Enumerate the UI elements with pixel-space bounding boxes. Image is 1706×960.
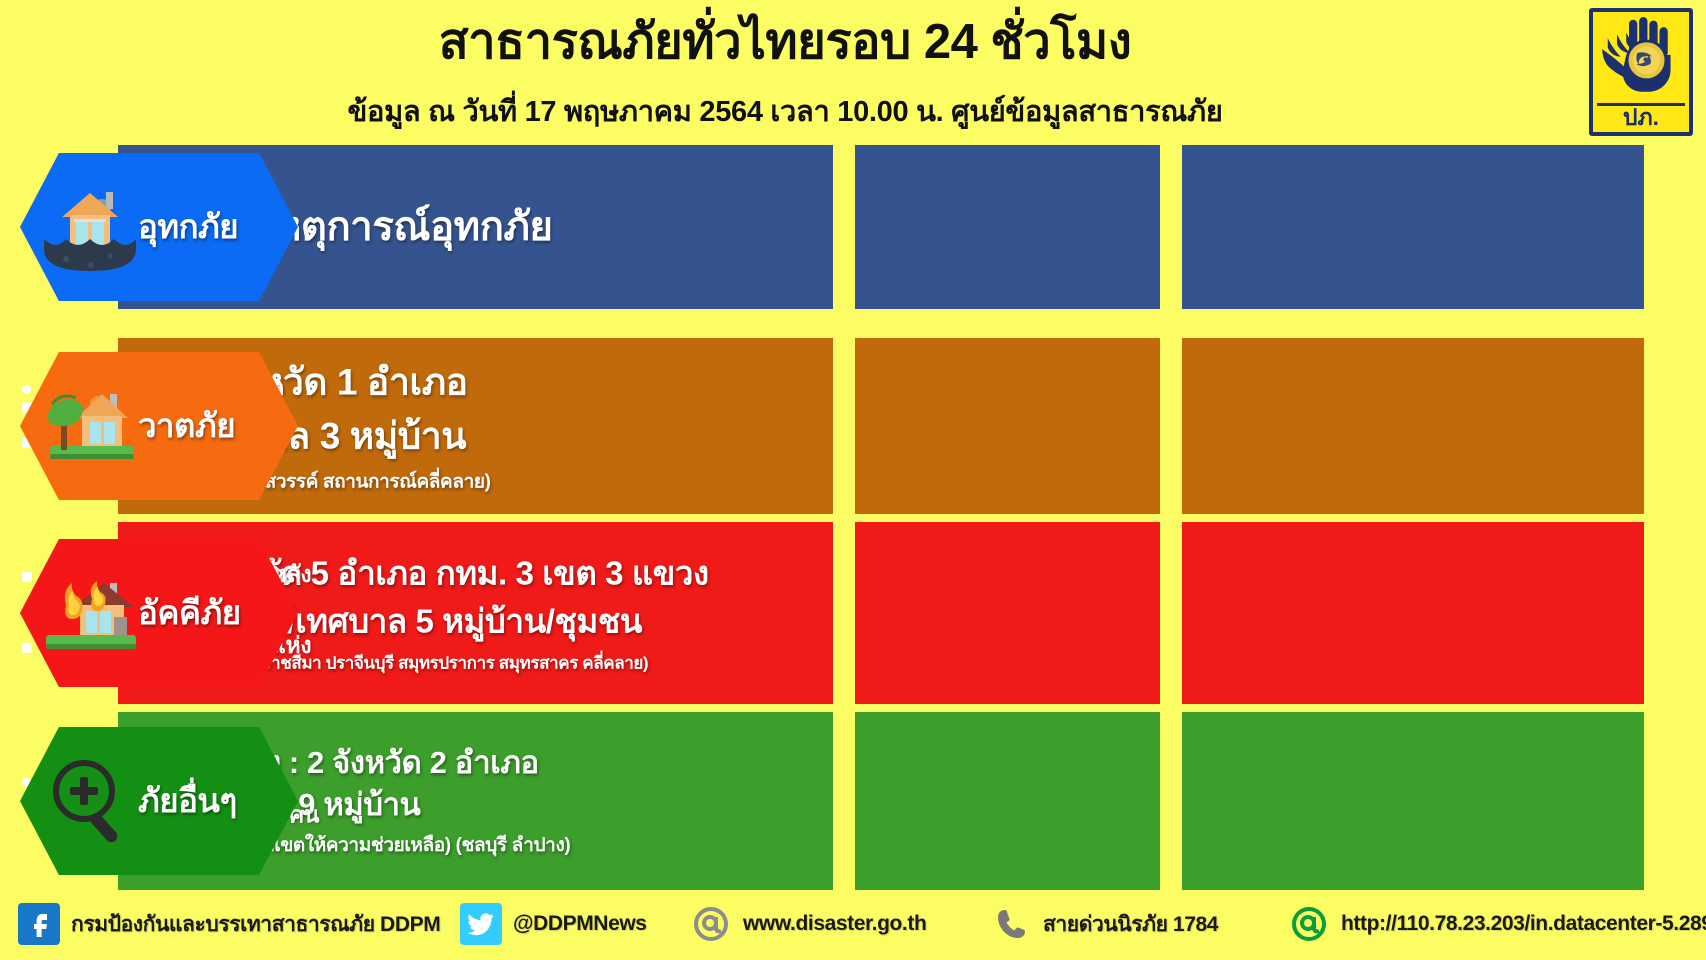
bullet-square-icon bbox=[22, 572, 32, 582]
footer-website-label: www.disaster.go.th bbox=[743, 912, 926, 936]
at-sign-green-icon bbox=[1288, 903, 1330, 945]
other-main-line-2: 2 ตำบล 9 หมู่บ้าน bbox=[190, 784, 1692, 826]
footer: กรมป้องกันและบรรเทาสาธารณภัย DDPM @DDPMN… bbox=[0, 890, 1706, 960]
other-main-note: (ประกาศเขตให้ความช่วยเหลือ) (ชลบุรี ลำปา… bbox=[204, 830, 1692, 860]
header: สาธารณภัยทั่วไทยรอบ 24 ชั่วโมง ข้อมูล ณ … bbox=[0, 0, 1706, 146]
magnifier-plus-icon bbox=[36, 749, 144, 853]
infographic-page: สาธารณภัยทั่วไทยรอบ 24 ชั่วโมง ข้อมูล ณ … bbox=[0, 0, 1706, 960]
at-sign-icon bbox=[690, 903, 732, 945]
fire-label: อัคคีภัย bbox=[138, 595, 288, 631]
wind-badge: วาตภัย bbox=[20, 352, 298, 500]
flood-main-line-1: ไม่มีเหตุการณ์อุทกภัย bbox=[190, 198, 1692, 256]
house-tree-wind-icon bbox=[36, 374, 144, 478]
footer-facebook-label: กรมป้องกันและบรรเทาสาธารณภัย DDPM bbox=[71, 908, 440, 941]
row-fire: อัคคีภัย 4 จังหวัด 5 อำเภอ กทม. 3 เขต 3 … bbox=[0, 522, 1706, 704]
page-subtitle: ข้อมูล ณ วันที่ 17 พฤษภาคม 2564 เวลา 10.… bbox=[0, 88, 1570, 134]
facebook-icon bbox=[18, 903, 60, 945]
flood-label: อุทกภัย bbox=[138, 209, 288, 245]
twitter-icon bbox=[460, 903, 502, 945]
row-flood: อุทกภัย ไม่มีเหตุการณ์อุทกภัย bbox=[0, 145, 1706, 309]
wind-label: วาตภัย bbox=[138, 408, 288, 444]
flood-badge: อุทกภัย bbox=[20, 153, 298, 301]
footer-hotline-label: สายด่วนนิรภัย 1784 bbox=[1043, 908, 1218, 941]
bullet-square-icon bbox=[22, 643, 32, 653]
house-fire-icon bbox=[36, 561, 144, 665]
footer-twitter[interactable]: @DDPMNews bbox=[460, 902, 647, 946]
ddpm-hand-emblem-icon bbox=[1593, 12, 1689, 103]
wind-main-note: (นครสวรรค์ สถานการณ์คลี่คลาย) bbox=[224, 467, 1692, 497]
footer-twitter-label: @DDPMNews bbox=[513, 912, 647, 936]
footer-datacenter[interactable]: http://110.78.23.203/in.datacenter-5.289… bbox=[1288, 902, 1706, 946]
footer-website[interactable]: www.disaster.go.th bbox=[690, 902, 926, 946]
phone-icon bbox=[990, 903, 1032, 945]
house-flood-icon bbox=[36, 175, 144, 279]
other-badge: ภัยอื่นๆ bbox=[20, 727, 298, 875]
row-other: ภัยอื่นๆ ภัยแล้ง : 2 จังหวัด 2 อำเภอ 2 ต… bbox=[0, 712, 1706, 890]
footer-facebook[interactable]: กรมป้องกันและบรรเทาสาธารณภัย DDPM bbox=[18, 902, 440, 946]
logo-name-box: ปภ. bbox=[1597, 103, 1685, 129]
page-title: สาธารณภัยทั่วไทยรอบ 24 ชั่วโมง bbox=[0, 14, 1570, 70]
other-main-text: ภัยแล้ง : 2 จังหวัด 2 อำเภอ 2 ตำบล 9 หมู… bbox=[190, 742, 1692, 860]
flood-main-text: ไม่มีเหตุการณ์อุทกภัย bbox=[190, 198, 1692, 256]
other-main-line-1: ภัยแล้ง : 2 จังหวัด 2 อำเภอ bbox=[190, 742, 1692, 784]
ddpm-logo: ปภ. bbox=[1589, 8, 1693, 136]
footer-datacenter-label: http://110.78.23.203/in.datacenter-5.289… bbox=[1341, 912, 1706, 936]
footer-hotline[interactable]: สายด่วนนิรภัย 1784 bbox=[990, 902, 1218, 946]
logo-abbr: ปภ. bbox=[1623, 106, 1659, 129]
fire-badge: อัคคีภัย bbox=[20, 539, 298, 687]
row-windstorm: วาตภัย 1 จังหวัด 1 อำเภอ 1 ตำบล 3 หมู่บ้… bbox=[0, 338, 1706, 514]
other-label: ภัยอื่นๆ bbox=[138, 783, 288, 819]
